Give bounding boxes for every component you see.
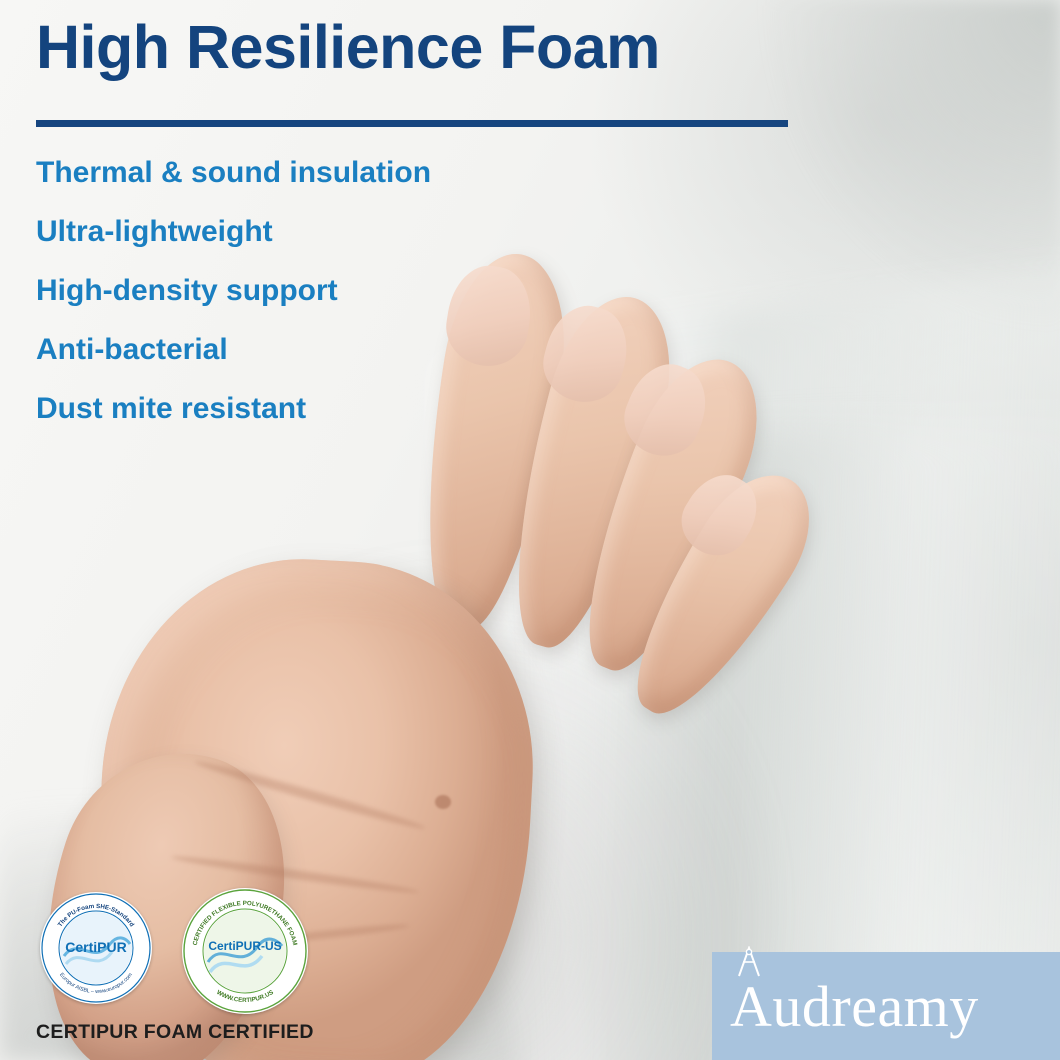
- certification-badges: CertiPUR The PU-Foam SHE-Standard Europu…: [34, 888, 364, 1008]
- feature-item: Anti-bacterial: [36, 335, 656, 365]
- feature-item: High-density support: [36, 276, 656, 306]
- brand-crown-icon: [734, 946, 764, 980]
- title-divider: [36, 120, 788, 127]
- page-title: High Resilience Foam: [36, 14, 660, 81]
- certification-caption: CERTIPUR FOAM CERTIFIED: [36, 1021, 314, 1044]
- certipur-europe-title: CertiPUR: [65, 939, 126, 955]
- feature-item: Dust mite resistant: [36, 394, 656, 424]
- brand-name: Audreamy: [730, 973, 979, 1040]
- certipur-us-badge: CertiPUR-US CERTIFIED FLEXIBLE POLYURETH…: [182, 888, 308, 1014]
- certipur-us-title: CertiPUR-US: [208, 939, 281, 953]
- feature-list: Thermal & sound insulation Ultra-lightwe…: [36, 158, 656, 453]
- product-poster: High Resilience Foam Thermal & sound ins…: [0, 0, 1060, 1060]
- brand-plate: Audreamy: [712, 952, 1060, 1060]
- feature-item: Thermal & sound insulation: [36, 158, 656, 188]
- skin-mark: [435, 795, 451, 809]
- certipur-europe-badge: CertiPUR The PU-Foam SHE-Standard Europu…: [40, 892, 152, 1004]
- feature-item: Ultra-lightweight: [36, 217, 656, 247]
